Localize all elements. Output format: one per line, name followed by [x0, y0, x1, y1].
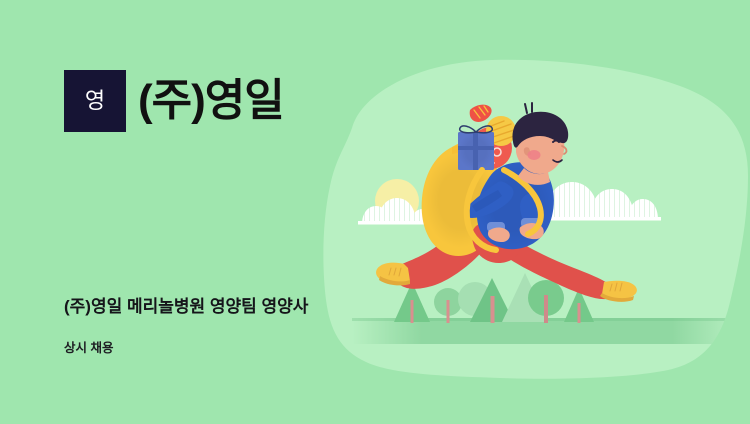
cheek-blush — [528, 150, 541, 160]
company-logo-badge: 영 — [64, 70, 126, 132]
company-name: (주)영일 — [138, 79, 284, 123]
gift-ball-yellow — [486, 116, 516, 146]
left-clouds — [358, 198, 436, 225]
posting-copy-block: (주)영일 메리놀병원 영양팀 영양사 상시 채용 — [64, 296, 308, 356]
gift-box — [458, 126, 494, 170]
runner-back-shoe — [376, 263, 410, 286]
runner-front-arm — [520, 194, 544, 239]
brand-row: 영 (주)영일 — [64, 70, 284, 132]
sack-strap — [467, 170, 541, 250]
runner-head — [512, 103, 568, 185]
job-posting-card: 영 (주)영일 (주)영일 메리놀병원 영양팀 영양사 상시 채용 — [0, 0, 750, 424]
job-status-badge: 상시 채용 — [64, 340, 308, 356]
trees — [394, 273, 594, 323]
job-title: (주)영일 메리놀병원 영양팀 영양사 — [64, 296, 308, 318]
runner-back-leg — [394, 210, 494, 289]
runner-torso — [477, 162, 554, 249]
runner-front-leg — [472, 221, 614, 299]
sun-icon — [375, 179, 419, 223]
runner-back-arm — [465, 181, 514, 218]
logo-glyph: 영 — [85, 90, 105, 112]
runner-front-shoe — [600, 281, 637, 302]
runner-second-hand — [487, 222, 510, 242]
ground — [352, 318, 742, 344]
candy — [470, 105, 492, 122]
gift-ball-red — [470, 127, 512, 169]
gift-sack — [422, 142, 502, 256]
background-blob — [323, 60, 748, 379]
right-clouds — [527, 182, 661, 221]
running-delivery-man-illustration — [0, 0, 750, 424]
